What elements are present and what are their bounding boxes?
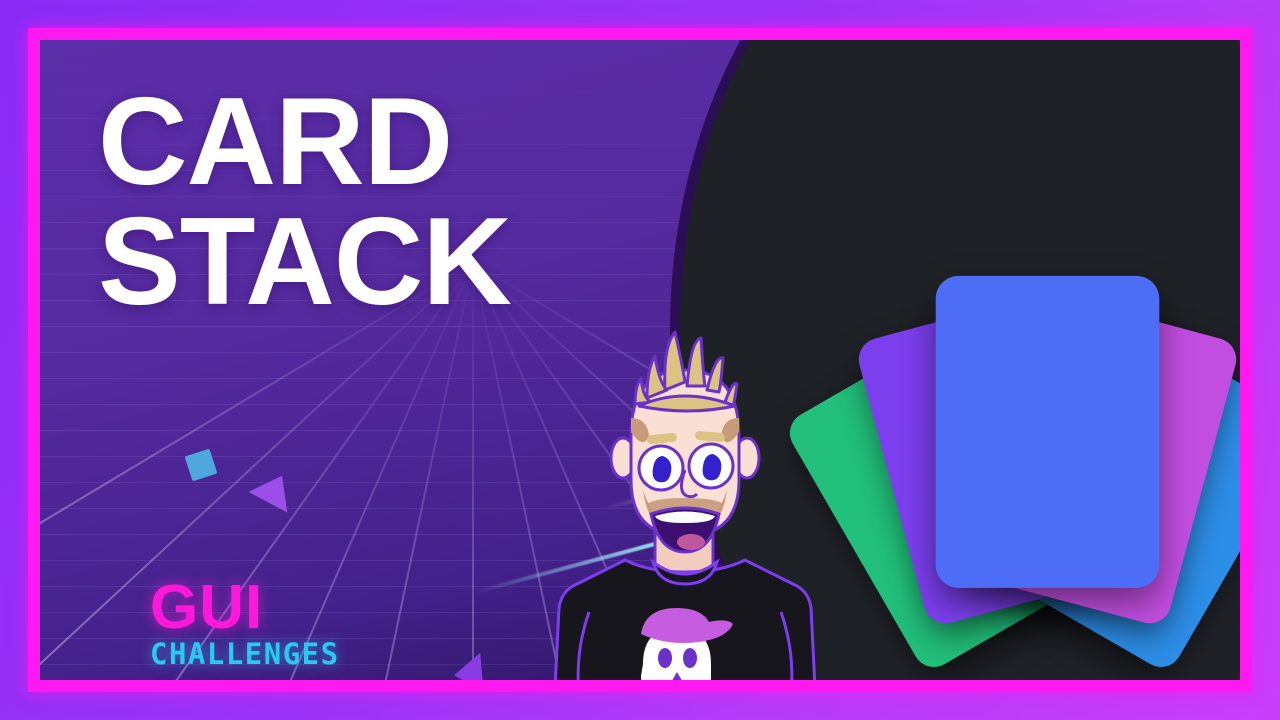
brand-secondary-text: CHALLENGES: [150, 640, 340, 669]
brand-primary-text: GUI: [150, 580, 340, 636]
shape-triangle-purple: [249, 465, 302, 512]
content-panel: CARD STACK: [40, 40, 1240, 680]
shape-triangle-violet: [452, 653, 483, 680]
thumbnail-canvas: CARD STACK: [0, 0, 1280, 720]
page-title: CARD STACK: [98, 82, 511, 323]
host-avatar: [535, 328, 835, 680]
shape-square-blue: [185, 449, 218, 482]
title-line-1: CARD: [98, 73, 452, 211]
title-line-2: STACK: [98, 193, 511, 331]
brand-logo: GUI CHALLENGES: [150, 580, 340, 669]
card-stack[interactable]: [810, 270, 1240, 640]
host-avatar-svg: [535, 328, 835, 680]
card-blue-top[interactable]: [936, 276, 1160, 588]
